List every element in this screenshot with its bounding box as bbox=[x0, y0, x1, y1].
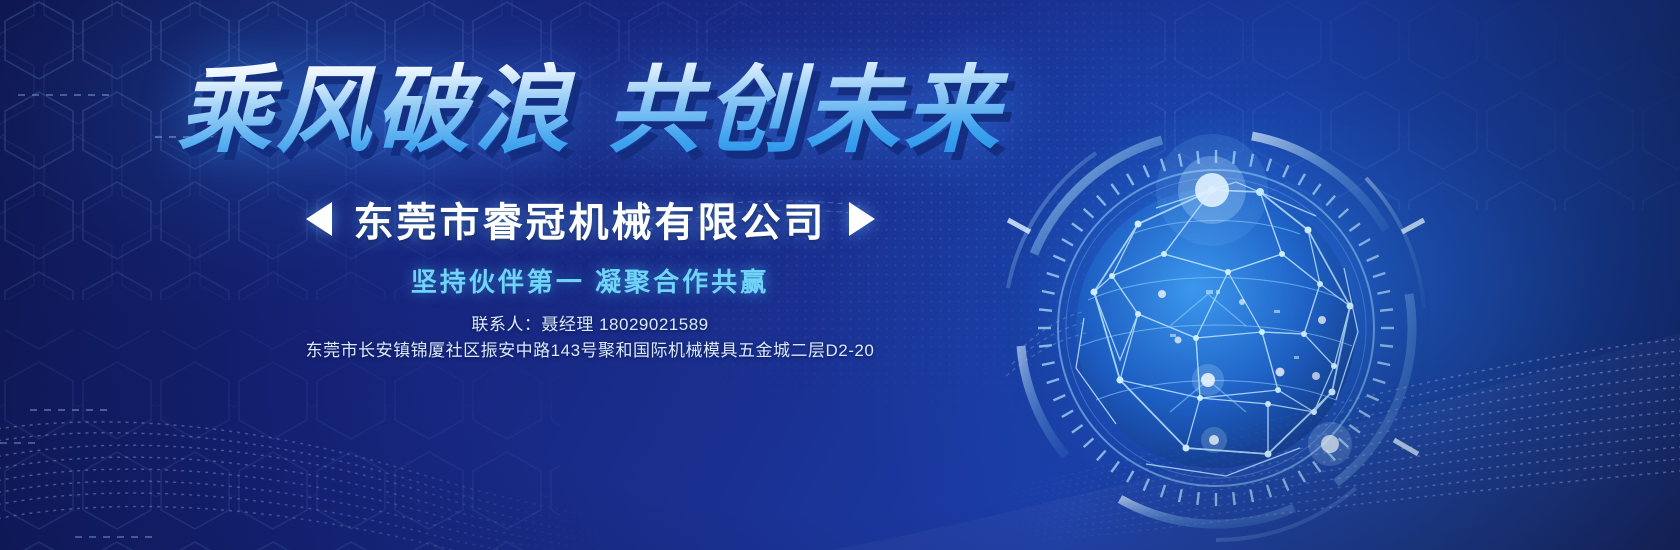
headline-part-1: 乘风破浪 bbox=[177, 58, 573, 164]
company-address-line: 东莞市长安镇锦厦社区振安中路143号聚和国际机械模具五金城二层D2-20 bbox=[270, 338, 910, 364]
company-name-row: 东莞市睿冠机械有限公司 bbox=[0, 190, 1180, 248]
contact-block: 联系人：聂经理 18029021589 东莞市长安镇锦厦社区振安中路143号聚和… bbox=[0, 312, 1180, 365]
left-triangle-icon bbox=[306, 202, 332, 236]
contact-person-line: 联系人：聂经理 18029021589 bbox=[0, 312, 1180, 338]
banner-content: 乘风破浪共创未来 东莞市睿冠机械有限公司 坚持伙伴第一 凝聚合作共赢 联系人：聂… bbox=[0, 0, 1100, 550]
headline-title: 乘风破浪共创未来 bbox=[0, 62, 1180, 162]
promotional-banner: 乘风破浪共创未来 东莞市睿冠机械有限公司 坚持伙伴第一 凝聚合作共赢 联系人：聂… bbox=[0, 0, 1680, 550]
headline-part-2: 共创未来 bbox=[607, 58, 1003, 164]
right-triangle-icon bbox=[849, 202, 875, 236]
slogan-text: 坚持伙伴第一 凝聚合作共赢 bbox=[0, 262, 1180, 299]
company-name: 东莞市睿冠机械有限公司 bbox=[354, 190, 827, 248]
